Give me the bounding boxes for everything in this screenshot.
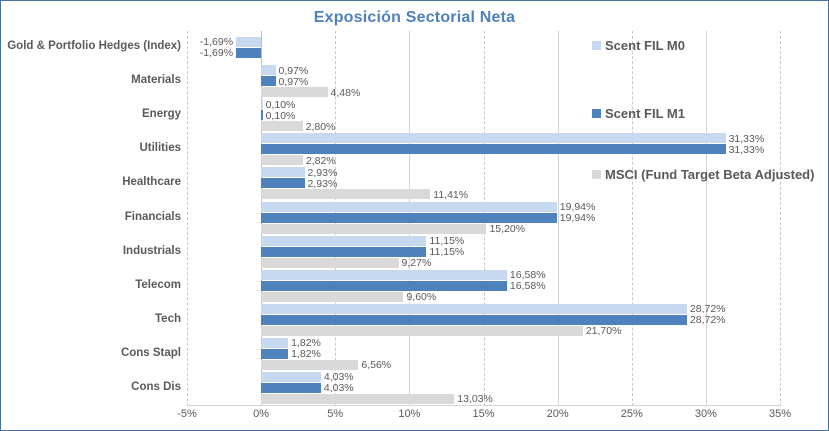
bar-value-label: 0,97%: [279, 77, 309, 87]
bar[interactable]: [261, 383, 321, 393]
category-label: Gold & Portfolio Hedges (Index): [1, 41, 181, 53]
bar-value-label: 21,70%: [586, 326, 622, 336]
bar[interactable]: [261, 224, 486, 234]
bar-value-label: 31,33%: [729, 145, 765, 155]
legend-swatch-icon: [592, 109, 601, 118]
bar-value-label: 1,82%: [291, 349, 321, 359]
bar-value-label: 28,72%: [690, 304, 726, 314]
bar[interactable]: [261, 281, 507, 291]
bar[interactable]: [261, 202, 557, 212]
bar-value-label: 19,94%: [560, 202, 596, 212]
bar-value-label: 4,03%: [324, 383, 354, 393]
bar-value-label: 1,82%: [291, 338, 321, 348]
x-axis-tick-label: 20%: [547, 408, 569, 420]
bar-value-label: 2,80%: [306, 122, 336, 132]
bar-value-label: 16,58%: [510, 270, 546, 280]
x-axis-tick-label: 30%: [695, 408, 717, 420]
bar[interactable]: [236, 48, 261, 58]
category-label: Tech: [1, 314, 181, 326]
bar-value-label: 0,10%: [266, 100, 296, 110]
bar-value-label: 31,33%: [729, 134, 765, 144]
bar-value-label: 9,60%: [406, 292, 436, 302]
bar-value-label: 11,41%: [433, 190, 468, 200]
category-label: Materials: [1, 75, 181, 87]
bar-value-label: 28,72%: [690, 315, 726, 325]
bar-value-label: 2,93%: [308, 168, 338, 178]
bar[interactable]: [261, 87, 327, 97]
bar-value-label: -1,69%: [200, 37, 233, 47]
legend-swatch-icon: [592, 41, 601, 50]
category-label: Cons Dis: [1, 382, 181, 394]
gridline: [780, 31, 782, 406]
category-label: Cons Stapl: [1, 348, 181, 360]
bar-value-label: -1,69%: [200, 48, 233, 58]
bar[interactable]: [261, 270, 507, 280]
category-label: Telecom: [1, 280, 181, 292]
bar[interactable]: [261, 167, 304, 177]
bar[interactable]: [261, 178, 304, 188]
bar-value-label: 4,03%: [324, 372, 354, 382]
bar-value-label: 2,82%: [306, 156, 336, 166]
gridline: [706, 31, 707, 406]
category-label: Industrials: [1, 246, 181, 258]
legend-item-label: MSCI (Fund Target Beta Adjusted): [605, 167, 814, 182]
bar-value-label: 13,03%: [457, 394, 493, 404]
gridline: [558, 31, 559, 406]
legend-swatch-icon: [592, 170, 601, 179]
x-axis-tick-label: -5%: [177, 408, 197, 420]
x-axis-tick-label: 25%: [621, 408, 643, 420]
plot-area: -1,69%-1,69%0,97%0,97%4,48%0,10%0,10%2,8…: [187, 31, 780, 406]
legend-item-scent-fil-m0[interactable]: Scent FIL M0: [592, 38, 685, 53]
bar-value-label: 2,93%: [308, 179, 338, 189]
gridline: [632, 31, 634, 406]
bar[interactable]: [261, 189, 430, 199]
bar-value-label: 6,56%: [361, 360, 391, 370]
bar[interactable]: [261, 304, 687, 314]
bar-value-label: 4,48%: [331, 88, 361, 98]
bar[interactable]: [261, 236, 426, 246]
chart-container: Exposición Sectorial Neta -1,69%-1,69%0,…: [0, 0, 829, 431]
chart-title: Exposición Sectorial Neta: [1, 9, 828, 27]
bar[interactable]: [261, 394, 454, 404]
bar[interactable]: [261, 360, 358, 370]
category-label: Utilities: [1, 143, 181, 155]
bar-value-label: 11,15%: [429, 236, 464, 246]
bar[interactable]: [261, 99, 262, 109]
legend-item-label: Scent FIL M1: [605, 106, 685, 121]
bar[interactable]: [236, 37, 261, 47]
bar-value-label: 15,20%: [489, 224, 525, 234]
bar-value-label: 0,10%: [266, 111, 296, 121]
bar[interactable]: [261, 76, 275, 86]
x-axis-tick-label: 15%: [472, 408, 494, 420]
bar-value-label: 11,15%: [429, 247, 464, 257]
bar[interactable]: [261, 65, 275, 75]
bar[interactable]: [261, 258, 398, 268]
x-axis-tick-label: 10%: [398, 408, 420, 420]
bar-value-label: 9,27%: [402, 258, 432, 268]
bar[interactable]: [261, 349, 288, 359]
legend-item-label: Scent FIL M0: [605, 38, 685, 53]
category-label: Financials: [1, 212, 181, 224]
bar[interactable]: [261, 326, 583, 336]
bar[interactable]: [261, 121, 303, 131]
x-axis-tick-label: 0%: [253, 408, 269, 420]
bar[interactable]: [261, 110, 262, 120]
bar[interactable]: [261, 338, 288, 348]
category-label: Healthcare: [1, 177, 181, 189]
bar[interactable]: [261, 372, 321, 382]
bar[interactable]: [261, 315, 687, 325]
bar[interactable]: [261, 292, 403, 302]
bar[interactable]: [261, 144, 725, 154]
bar-value-label: 16,58%: [510, 281, 546, 291]
legend-item-scent-fil-m1[interactable]: Scent FIL M1: [592, 106, 685, 121]
category-label: Energy: [1, 109, 181, 121]
bar-value-label: 0,97%: [279, 66, 309, 76]
bar[interactable]: [261, 213, 557, 223]
x-axis-line: [187, 405, 780, 406]
x-axis-tick-label: 5%: [327, 408, 343, 420]
bar[interactable]: [261, 247, 426, 257]
x-axis-ticks: -5%0%5%10%15%20%25%30%35%: [187, 408, 780, 426]
gridline: [187, 31, 189, 406]
bar[interactable]: [261, 155, 303, 165]
bar[interactable]: [261, 133, 725, 143]
legend-item-msci[interactable]: MSCI (Fund Target Beta Adjusted): [592, 167, 814, 182]
bar-value-label: 19,94%: [560, 213, 596, 223]
x-axis-tick-label: 35%: [769, 408, 791, 420]
